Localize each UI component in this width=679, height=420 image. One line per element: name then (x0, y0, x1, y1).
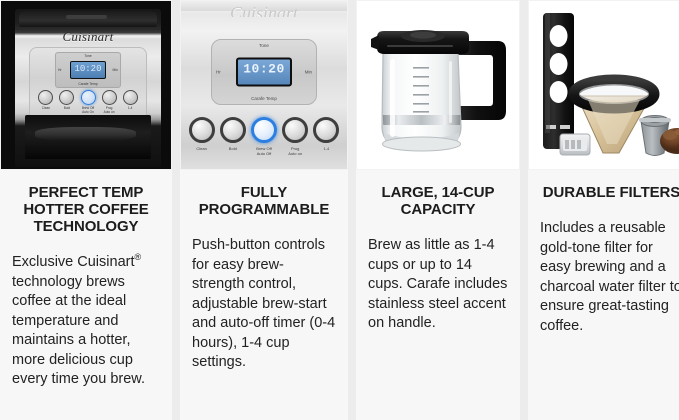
button-label: Prog Auto on (99, 106, 119, 114)
feature-text-cell-2: FULLY PROGRAMMABLE Push-button controls … (180, 170, 348, 420)
feature-image-cell-4 (528, 0, 679, 170)
knob-icon (189, 117, 215, 143)
label-tone: Tone (259, 43, 269, 48)
label-hr: Hr (58, 68, 62, 72)
control-diamond: Tone Hr Min Carafe Temp 10:20 (55, 52, 121, 88)
knob-icon (102, 90, 117, 105)
knob-icon (220, 117, 246, 143)
control-button-one-to-four: 1-4 (120, 90, 140, 110)
carafe-spout (371, 35, 379, 50)
feature-image-cell-1: Cuisinart Tone Hr Min Carafe Temp 10:20 … (0, 0, 172, 170)
glass-carafe-image (357, 1, 519, 169)
feature-body-3: Brew as little as 1-4 cups or up to 14 c… (368, 236, 508, 334)
control-button-brew-off-auto-off: Brew Off Auto Off (249, 117, 278, 163)
button-label: 1-4 (312, 146, 341, 151)
knob-icon (313, 117, 339, 143)
feature-body-text-after: technology brews coffee at the ideal tem… (12, 274, 145, 388)
button-label: Bold (218, 146, 247, 151)
control-panel: Tone Hr Min Carafe Temp 10:20 Clean (29, 47, 147, 125)
feature-image-cell-3 (356, 0, 520, 170)
brand-wordmark: Cuisinart (15, 29, 161, 45)
feature-heading-2: FULLY PROGRAMMABLE (192, 184, 336, 218)
glass-highlight-right (449, 61, 452, 123)
lid-highlight (387, 45, 453, 47)
feature-body-2: Push-button controls for easy brew-stren… (192, 236, 336, 373)
feature-text-cell-1: PERFECT TEMP HOTTER COFFEE TECHNOLOGY Ex… (0, 170, 172, 420)
label-carafe-temp: Carafe Temp (78, 82, 97, 86)
label-min: Min (305, 70, 312, 75)
knob-icon (282, 117, 308, 143)
label-min: Min (113, 68, 118, 72)
feature-heading-1: PERFECT TEMP HOTTER COFFEE TECHNOLOGY (12, 184, 160, 235)
charcoal-water-filter (560, 134, 590, 155)
feature-body-text-before: Includes a reusable gold-tone filter for… (540, 220, 679, 334)
feature-grid: Cuisinart Tone Hr Min Carafe Temp 10:20 … (0, 0, 679, 420)
knob-icon (123, 90, 138, 105)
feature-body-text-before: Exclusive Cuisinart (12, 254, 135, 270)
lcd-display: 10:20 (70, 61, 106, 79)
control-button-bold: Bold (218, 117, 247, 163)
control-buttons-row: Clean Bold Brew Off Auto On Prog Au (36, 90, 140, 118)
control-button-clean: Clean (187, 117, 216, 163)
label-hr: Hr (216, 70, 221, 75)
feature-heading-4: DURABLE FILTERS (540, 184, 679, 201)
feature-body-4: Includes a reusable gold-tone filter for… (540, 219, 679, 336)
label-carafe-temp: Carafe Temp (251, 96, 277, 101)
registered-mark-icon: ® (135, 252, 142, 262)
control-button-brew-off-auto-on: Brew Off Auto On (78, 90, 98, 114)
label-tone: Tone (84, 54, 91, 58)
feature-body-text-before: Push-button controls for easy brew-stren… (192, 237, 335, 370)
control-buttons-row: Clean Bold Brew Off Auto Off Prog Auto o… (187, 117, 341, 163)
lcd-display: 10:20 (236, 58, 292, 87)
filters-illustration (529, 1, 679, 170)
brand-wordmark: Cuisinart (181, 3, 347, 17)
knob-icon-active (81, 90, 96, 105)
control-button-prog: Prog Auto on (99, 90, 119, 114)
knob-icon-active (251, 117, 277, 143)
control-panel-closeup-image: Cuisinart Tone Hr Min Carafe Temp 10:20 … (181, 1, 347, 169)
carafe-compartment (25, 115, 151, 159)
glass-carafe-illustration (357, 1, 520, 170)
feature-body-1: Exclusive Cuisinart® technology brews co… (12, 253, 160, 390)
coffee-maker-lid (19, 11, 157, 27)
button-label: Clean (187, 146, 216, 151)
filters-group-image (529, 1, 679, 169)
feature-text-cell-3: LARGE, 14-CUP CAPACITY Brew as little as… (356, 170, 520, 420)
feature-heading-3: LARGE, 14-CUP CAPACITY (368, 184, 508, 218)
feature-text-cell-4: DURABLE FILTERS Includes a reusable gold… (528, 170, 679, 420)
lid-knob-top (410, 32, 436, 39)
feature-image-cell-2: Cuisinart Tone Hr Min Carafe Temp 10:20 … (180, 0, 348, 170)
knob-icon (59, 90, 74, 105)
knob-icon (38, 90, 53, 105)
button-label: Bold (57, 106, 77, 110)
control-button-bold: Bold (57, 90, 77, 110)
coffee-maker-illustration: Cuisinart Tone Hr Min Carafe Temp 10:20 … (15, 9, 161, 167)
button-label: Prog Auto on (281, 146, 310, 156)
coffee-maker-control-head-image: Cuisinart Tone Hr Min Carafe Temp 10:20 … (1, 1, 171, 169)
button-label: Clean (36, 106, 56, 110)
glass-highlight-left (390, 59, 395, 137)
control-button-clean: Clean (36, 90, 56, 110)
control-button-one-to-four: 1-4 (312, 117, 341, 163)
button-label: Brew Off Auto On (78, 106, 98, 114)
control-button-prog: Prog Auto on (281, 117, 310, 163)
feature-body-text-before: Brew as little as 1-4 cups or up to 14 c… (368, 237, 507, 331)
button-label: 1-4 (120, 106, 140, 110)
carafe-base (383, 137, 461, 151)
control-diamond: Tone Hr Min Carafe Temp 10:20 (211, 39, 317, 105)
button-label: Brew Off Auto Off (249, 146, 278, 156)
charcoal-filter-holder (543, 13, 574, 149)
